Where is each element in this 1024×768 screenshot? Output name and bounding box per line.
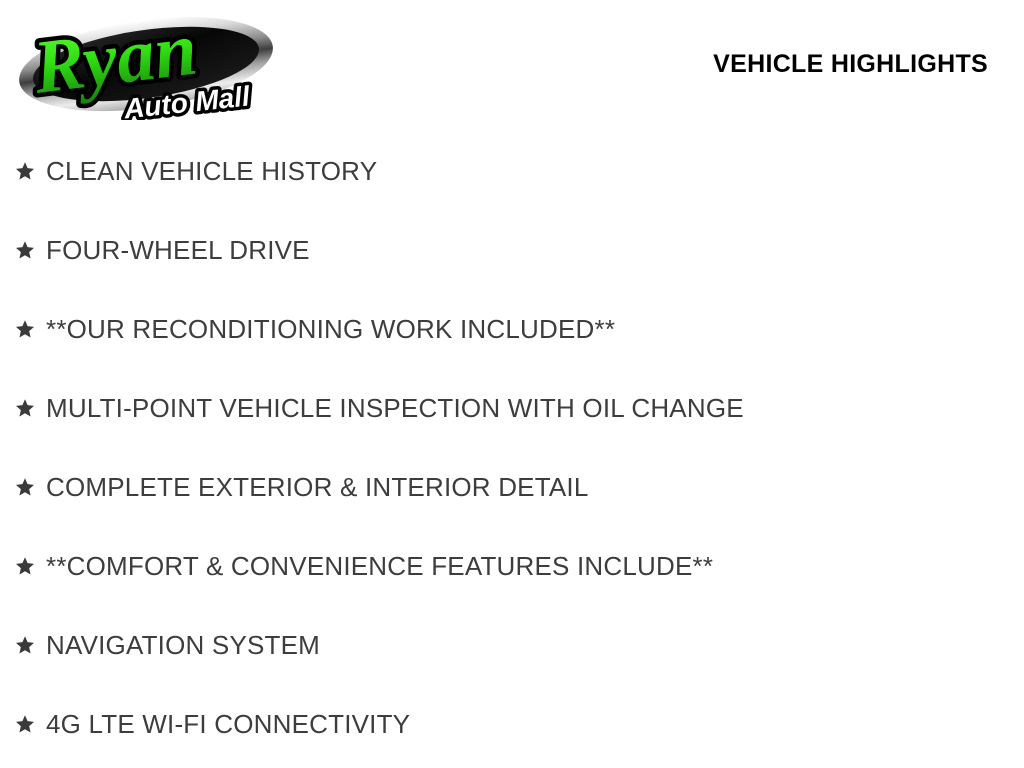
list-item: FOUR-WHEEL DRIVE bbox=[0, 227, 1024, 273]
star-icon bbox=[14, 397, 36, 419]
list-item: **COMFORT & CONVENIENCE FEATURES INCLUDE… bbox=[0, 543, 1024, 589]
list-item-label: **OUR RECONDITIONING WORK INCLUDED** bbox=[46, 316, 615, 342]
list-item: COMPLETE EXTERIOR & INTERIOR DETAIL bbox=[0, 464, 1024, 510]
list-item: NAVIGATION SYSTEM bbox=[0, 622, 1024, 668]
list-item-label: NAVIGATION SYSTEM bbox=[46, 632, 320, 658]
ryan-auto-mall-logo: Ryan Ryan Auto Mall Auto Mall bbox=[12, 8, 280, 120]
list-item-label: 4G LTE WI-FI CONNECTIVITY bbox=[46, 711, 410, 737]
list-item-label: FOUR-WHEEL DRIVE bbox=[46, 237, 310, 263]
star-icon bbox=[14, 476, 36, 498]
star-icon bbox=[14, 634, 36, 656]
star-icon bbox=[14, 160, 36, 182]
star-icon bbox=[14, 318, 36, 340]
star-icon bbox=[14, 713, 36, 735]
star-icon bbox=[14, 555, 36, 577]
list-item-label: **COMFORT & CONVENIENCE FEATURES INCLUDE… bbox=[46, 553, 713, 579]
list-item-label: CLEAN VEHICLE HISTORY bbox=[46, 158, 377, 184]
list-item: **OUR RECONDITIONING WORK INCLUDED** bbox=[0, 306, 1024, 352]
vehicle-highlights-page: Ryan Ryan Auto Mall Auto Mall VEHICLE HI… bbox=[0, 0, 1024, 768]
list-item: CLEAN VEHICLE HISTORY bbox=[0, 148, 1024, 194]
list-item: MULTI-POINT VEHICLE INSPECTION WITH OIL … bbox=[0, 385, 1024, 431]
vehicle-highlights-list: CLEAN VEHICLE HISTORY FOUR-WHEEL DRIVE *… bbox=[0, 148, 1024, 768]
list-item-label: COMPLETE EXTERIOR & INTERIOR DETAIL bbox=[46, 474, 589, 500]
page-title: VEHICLE HIGHLIGHTS bbox=[520, 50, 988, 79]
list-item: 4G LTE WI-FI CONNECTIVITY bbox=[0, 701, 1024, 747]
list-item-label: MULTI-POINT VEHICLE INSPECTION WITH OIL … bbox=[46, 395, 744, 421]
star-icon bbox=[14, 239, 36, 261]
